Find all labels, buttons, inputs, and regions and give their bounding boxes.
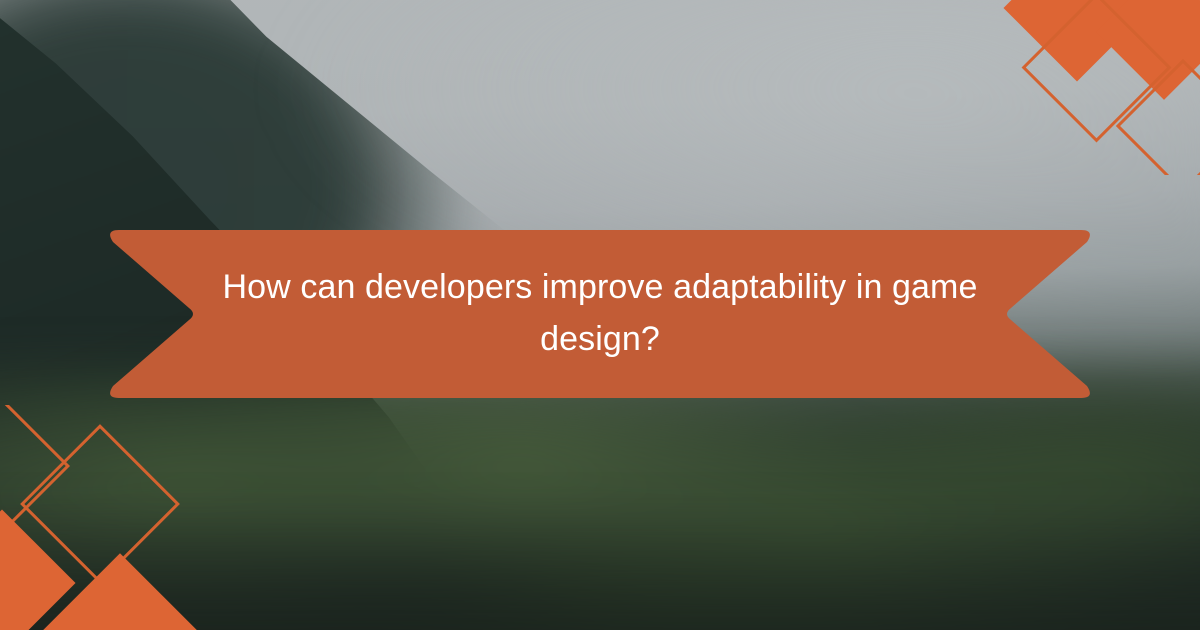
page-title: How can developers improve adaptability … [220,262,980,365]
headline-banner: How can developers improve adaptability … [105,226,1095,402]
question-card: How can developers improve adaptability … [0,0,1200,630]
banner-text-area: How can developers improve adaptability … [105,226,1095,402]
bottom-left-diamond-cluster [0,405,225,630]
top-right-diamond-cluster [990,0,1200,175]
